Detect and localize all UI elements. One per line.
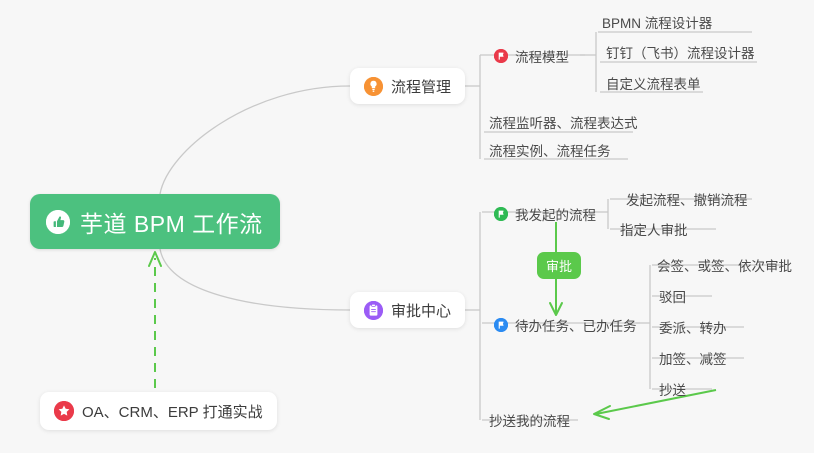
node-start-cancel-process[interactable]: 发起流程、撤销流程 [626, 189, 748, 209]
node-reject[interactable]: 驳回 [659, 286, 686, 306]
node-reject-label: 驳回 [659, 286, 686, 306]
root-label: 芋道 BPM 工作流 [80, 205, 263, 239]
node-process-model-label: 流程模型 [515, 46, 569, 66]
node-cc-to-me-label: 抄送我的流程 [489, 410, 570, 430]
node-my-initiated[interactable]: 我发起的流程 [494, 204, 596, 224]
node-dingtalk-designer-label: 钉钉（飞书）流程设计器 [606, 42, 755, 62]
lightbulb-icon [364, 77, 383, 96]
node-todo-done-tasks-label: 待办任务、已办任务 [515, 315, 637, 335]
node-listener-expression[interactable]: 流程监听器、流程表达式 [489, 112, 638, 132]
node-add-remove-sign-label: 加签、减签 [659, 348, 727, 368]
star-icon [54, 401, 74, 421]
node-assignee-approval-label: 指定人审批 [620, 219, 688, 239]
mindmap-canvas: 芋道 BPM 工作流 流程管理 流程模型 BPMN 流程设计器 钉钉（飞书）流程… [0, 0, 814, 453]
node-assignee-approval[interactable]: 指定人审批 [620, 219, 688, 239]
cc-flow-arrow [594, 390, 716, 419]
integration-dashed-arrow [149, 252, 161, 388]
node-cc[interactable]: 抄送 [659, 379, 686, 399]
node-bpmn-designer-label: BPMN 流程设计器 [602, 12, 712, 32]
card-integration[interactable]: OA、CRM、ERP 打通实战 [40, 392, 277, 430]
node-custom-form-label: 自定义流程表单 [606, 73, 701, 93]
flag-red-icon [494, 49, 508, 63]
node-custom-form[interactable]: 自定义流程表单 [606, 73, 701, 93]
node-cc-to-me[interactable]: 抄送我的流程 [489, 410, 570, 430]
node-my-initiated-label: 我发起的流程 [515, 204, 596, 224]
branch-flow-management[interactable]: 流程管理 [350, 68, 465, 104]
node-add-remove-sign[interactable]: 加签、减签 [659, 348, 727, 368]
flag-blue-icon [494, 318, 508, 332]
branch-flow-management-label: 流程管理 [391, 76, 451, 97]
approval-pill: 审批 [537, 252, 581, 279]
node-bpmn-designer[interactable]: BPMN 流程设计器 [602, 12, 712, 32]
node-start-cancel-process-label: 发起流程、撤销流程 [626, 189, 748, 209]
node-delegate-transfer[interactable]: 委派、转办 [659, 317, 727, 337]
branch-approval-center-label: 审批中心 [391, 300, 451, 321]
thumbs-up-icon [46, 210, 70, 234]
node-countersign-label: 会签、或签、依次审批 [657, 255, 792, 275]
branch-approval-center[interactable]: 审批中心 [350, 292, 465, 328]
node-listener-expression-label: 流程监听器、流程表达式 [489, 112, 638, 132]
node-delegate-transfer-label: 委派、转办 [659, 317, 727, 337]
node-process-model[interactable]: 流程模型 [494, 46, 569, 66]
root-node[interactable]: 芋道 BPM 工作流 [30, 194, 280, 249]
node-countersign[interactable]: 会签、或签、依次审批 [657, 255, 792, 275]
flag-green-icon [494, 207, 508, 221]
node-todo-done-tasks[interactable]: 待办任务、已办任务 [494, 315, 637, 335]
clipboard-icon [364, 301, 383, 320]
node-instance-task-label: 流程实例、流程任务 [489, 140, 611, 160]
card-integration-label: OA、CRM、ERP 打通实战 [82, 401, 263, 422]
node-cc-label: 抄送 [659, 379, 686, 399]
node-instance-task[interactable]: 流程实例、流程任务 [489, 140, 611, 160]
node-dingtalk-designer[interactable]: 钉钉（飞书）流程设计器 [606, 42, 755, 62]
approval-pill-label: 审批 [546, 256, 572, 275]
